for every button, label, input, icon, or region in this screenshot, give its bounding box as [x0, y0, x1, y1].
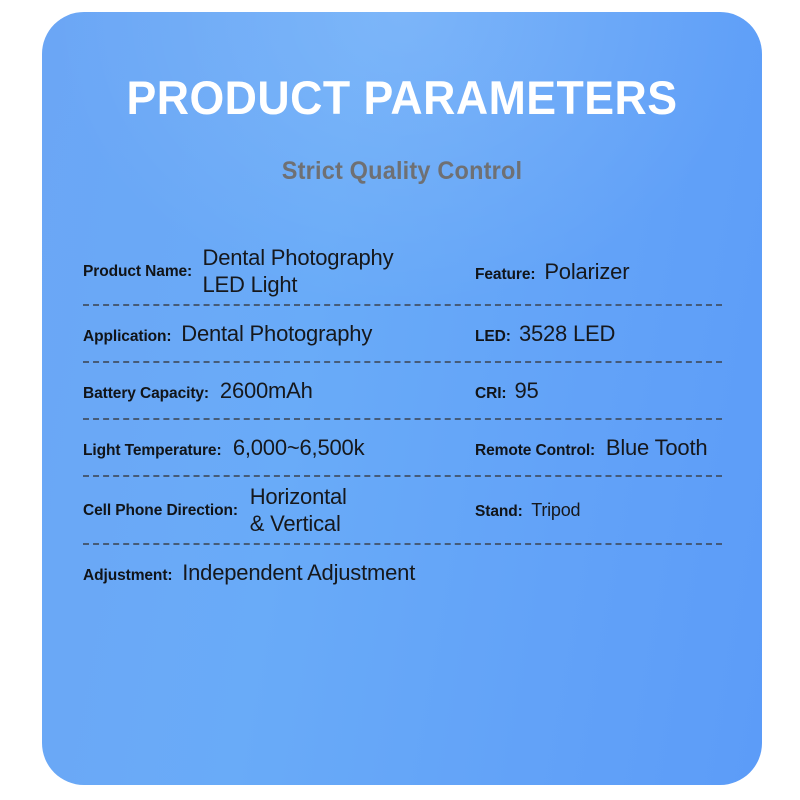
spec-value: Dental Photography LED Light	[196, 245, 394, 299]
spec-label: Remote Control:	[475, 442, 595, 460]
spec-label: Adjustment:	[83, 567, 172, 585]
spec-value: Blue Tooth	[599, 435, 708, 462]
spec-label: Application:	[83, 328, 172, 346]
spec-item-feature: Feature: Polarizer	[475, 259, 724, 286]
table-row: Cell Phone Direction: Horizontal & Verti…	[83, 477, 724, 545]
card-header: PRODUCT PARAMETERS Strict Quality Contro…	[42, 12, 762, 186]
table-row: Light Temperature: 6,000~6,500k Remote C…	[83, 420, 724, 477]
spec-item-light-temperature: Light Temperature: 6,000~6,500k	[83, 435, 475, 462]
spec-item-product-name: Product Name: Dental Photography LED Lig…	[83, 245, 475, 299]
spec-item-remote-control: Remote Control: Blue Tooth	[475, 435, 724, 462]
spec-value: Independent Adjustment	[175, 560, 415, 587]
spec-item-adjustment: Adjustment: Independent Adjustment	[83, 560, 724, 587]
page-subtitle: Strict Quality Control	[64, 121, 741, 186]
table-row: Application: Dental Photography LED: 352…	[83, 306, 724, 363]
spec-value: Polarizer	[537, 259, 629, 286]
table-row: Adjustment: Independent Adjustment	[83, 545, 724, 602]
table-row: Battery Capacity: 2600mAh CRI: 95	[83, 363, 724, 420]
spec-value: 2600mAh	[213, 378, 313, 405]
page-title: PRODUCT PARAMETERS	[60, 74, 744, 121]
spec-value: 6,000~6,500k	[226, 435, 365, 462]
spec-label: Battery Capacity:	[83, 385, 209, 403]
spec-value: 95	[507, 378, 538, 405]
spec-label: LED:	[475, 328, 511, 346]
spec-item-application: Application: Dental Photography	[83, 321, 475, 348]
table-row: Product Name: Dental Photography LED Lig…	[83, 238, 724, 306]
spec-label: Light Temperature:	[83, 442, 222, 460]
spec-label: Stand:	[475, 503, 523, 521]
spec-value: Dental Photography	[174, 321, 372, 348]
spec-label: Cell Phone Direction:	[83, 502, 238, 520]
spec-label: CRI:	[475, 385, 507, 403]
spec-item-led: LED: 3528 LED	[475, 321, 724, 348]
spec-value: Horizontal & Vertical	[243, 484, 347, 538]
spec-value: 3528 LED	[512, 321, 615, 348]
spec-item-cell-phone-direction: Cell Phone Direction: Horizontal & Verti…	[83, 484, 475, 538]
spec-label: Product Name:	[83, 263, 192, 281]
product-parameters-card: PRODUCT PARAMETERS Strict Quality Contro…	[42, 12, 762, 785]
spec-item-stand: Stand: Tripod	[475, 500, 724, 522]
spec-item-battery-capacity: Battery Capacity: 2600mAh	[83, 378, 475, 405]
spec-table: Product Name: Dental Photography LED Lig…	[42, 238, 762, 602]
spec-item-cri: CRI: 95	[475, 378, 724, 405]
spec-value: Tripod	[524, 500, 580, 522]
spec-label: Feature:	[475, 266, 535, 284]
